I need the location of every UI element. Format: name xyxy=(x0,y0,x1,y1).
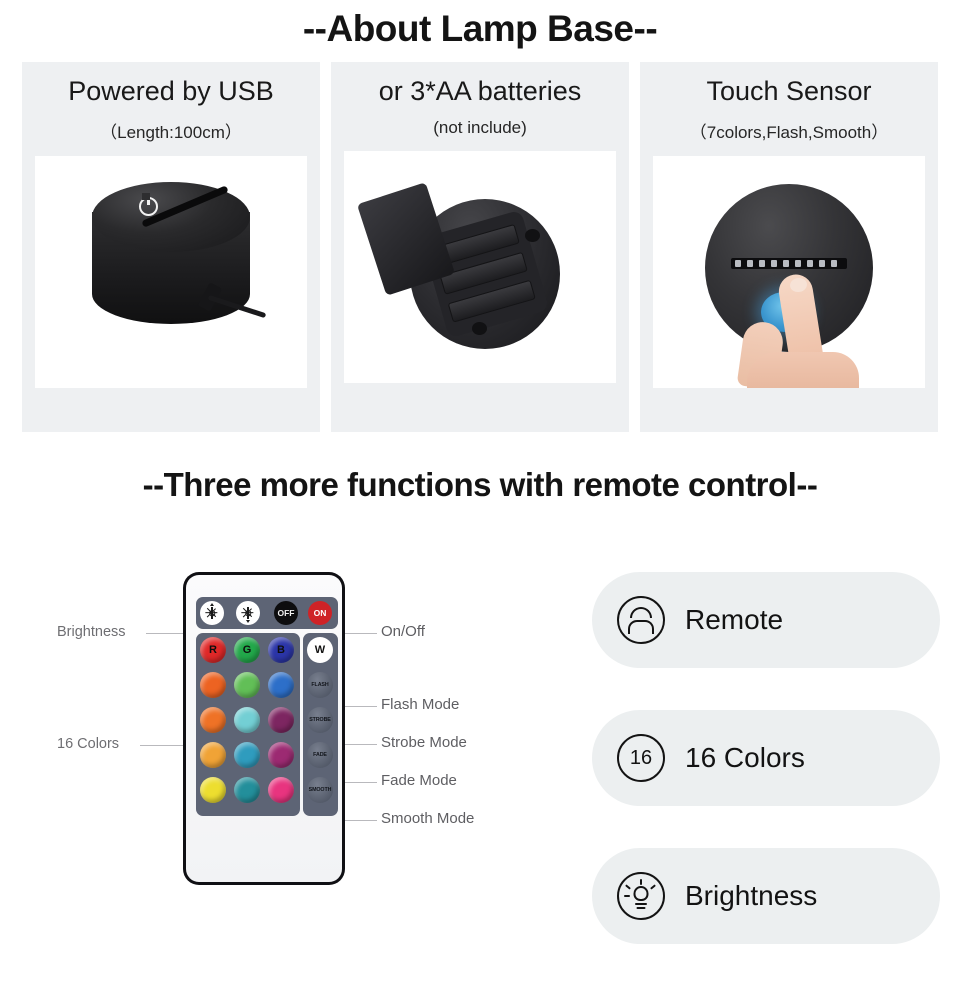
rubber-foot xyxy=(472,322,487,335)
leader-line-on-off xyxy=(340,633,377,634)
feature-pill-list: Remote 16 16 Colors Brightness xyxy=(592,572,940,986)
brightness-down-button[interactable] xyxy=(236,601,260,625)
leader-line-strobe xyxy=(340,744,377,745)
color-button-pink[interactable] xyxy=(268,777,294,803)
card-subtitle: （Length:100cm） xyxy=(100,118,242,143)
card-subtitle: (not include) xyxy=(433,118,527,138)
callout-strobe-mode: Strobe Mode xyxy=(381,734,467,751)
color-button-green[interactable]: G xyxy=(234,637,260,663)
color-button-orange[interactable] xyxy=(200,707,226,733)
leader-line-flash xyxy=(340,706,377,707)
fade-mode-button[interactable]: FADE xyxy=(307,742,333,768)
color-button-dark-purple[interactable] xyxy=(268,707,294,733)
hand xyxy=(747,352,859,388)
leader-line-smooth xyxy=(340,820,377,821)
sixteen-circle-icon: 16 xyxy=(617,734,665,782)
power-symbol-mask xyxy=(142,193,150,200)
color-button-amber[interactable] xyxy=(200,742,226,768)
brightness-up-button[interactable] xyxy=(200,601,224,625)
power-off-button[interactable]: OFF xyxy=(274,601,298,625)
color-button-white[interactable]: W xyxy=(307,637,333,663)
feature-label: 16 Colors xyxy=(685,742,805,774)
remote-face: OFF ON R G B W FLASH STROBE xyxy=(186,575,342,882)
page-title-remote-functions: --Three more functions with remote contr… xyxy=(0,466,960,504)
feature-label: Brightness xyxy=(685,880,817,912)
sixteen-badge-text: 16 xyxy=(619,736,663,780)
card-aa-batteries: or 3*AA batteries (not include) xyxy=(331,62,629,432)
power-on-button[interactable]: ON xyxy=(308,601,332,625)
card-touch-sensor: Touch Sensor （7colors,Flash,Smooth） xyxy=(640,62,938,432)
rubber-foot xyxy=(525,229,540,242)
flash-mode-button[interactable]: FLASH xyxy=(307,672,333,698)
lamp-base-top-surface xyxy=(92,182,250,252)
callout-fade-mode: Fade Mode xyxy=(381,772,457,789)
strobe-mode-button[interactable]: STROBE xyxy=(307,707,333,733)
remote-signal-icon xyxy=(617,596,665,644)
color-button-magenta[interactable] xyxy=(268,742,294,768)
feature-pill-brightness[interactable]: Brightness xyxy=(592,848,940,944)
card-subtitle: （7colors,Flash,Smooth） xyxy=(690,118,888,143)
smooth-mode-button[interactable]: SMOOTH xyxy=(307,777,333,803)
feature-pill-16-colors[interactable]: 16 16 Colors xyxy=(592,710,940,806)
color-button-light-green[interactable] xyxy=(234,672,260,698)
touch-sensor-photo xyxy=(653,156,925,388)
lamp-base-cards-row: Powered by USB （Length:100cm） or 3*AA ba… xyxy=(22,62,938,432)
feature-pill-remote[interactable]: Remote xyxy=(592,572,940,668)
sun-up-icon xyxy=(206,607,219,620)
color-button-red[interactable]: R xyxy=(200,637,226,663)
color-button-blue[interactable]: B xyxy=(268,637,294,663)
feature-label: Remote xyxy=(685,604,783,636)
color-button-teal[interactable] xyxy=(234,777,260,803)
callout-smooth-mode: Smooth Mode xyxy=(381,810,474,827)
battery-compartment-photo xyxy=(344,151,616,383)
color-button-turquoise[interactable] xyxy=(234,707,260,733)
card-title: or 3*AA batteries xyxy=(379,76,582,107)
callout-flash-mode: Flash Mode xyxy=(381,696,459,713)
remote-diagram: Brightness 16 Colors On/Off Flash Mode S… xyxy=(0,548,560,948)
card-title: Touch Sensor xyxy=(706,76,871,107)
color-button-teal-blue[interactable] xyxy=(234,742,260,768)
callout-brightness: Brightness xyxy=(57,624,126,640)
bulb-brightness-icon xyxy=(617,872,665,920)
remote-control[interactable]: OFF ON R G B W FLASH STROBE xyxy=(183,572,345,885)
leader-line-fade xyxy=(340,782,377,783)
card-title: Powered by USB xyxy=(68,76,274,107)
page-title-about-lamp-base: --About Lamp Base-- xyxy=(0,8,960,50)
color-button-yellow[interactable] xyxy=(200,777,226,803)
callout-16-colors: 16 Colors xyxy=(57,736,119,752)
usb-lamp-base-photo xyxy=(35,156,307,388)
color-button-medium-blue[interactable] xyxy=(268,672,294,698)
card-powered-by-usb: Powered by USB （Length:100cm） xyxy=(22,62,320,432)
sun-down-icon xyxy=(242,607,255,620)
led-strip xyxy=(731,258,847,269)
callout-on-off: On/Off xyxy=(381,623,425,640)
color-button-orange-red[interactable] xyxy=(200,672,226,698)
